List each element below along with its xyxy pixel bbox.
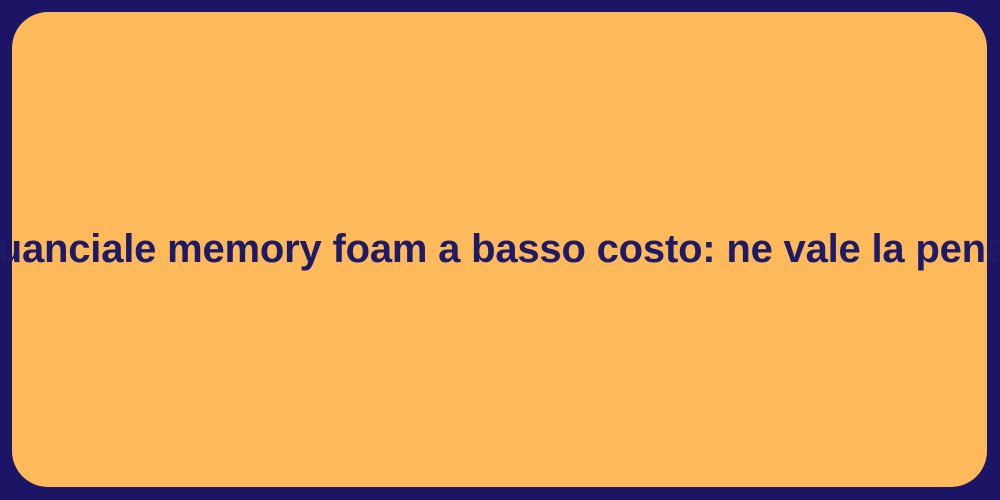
page-title: Guanciale memory foam a basso costo: ne … xyxy=(0,226,1000,273)
page-frame: Guanciale memory foam a basso costo: ne … xyxy=(0,0,1000,500)
headline-card: Guanciale memory foam a basso costo: ne … xyxy=(12,12,987,487)
